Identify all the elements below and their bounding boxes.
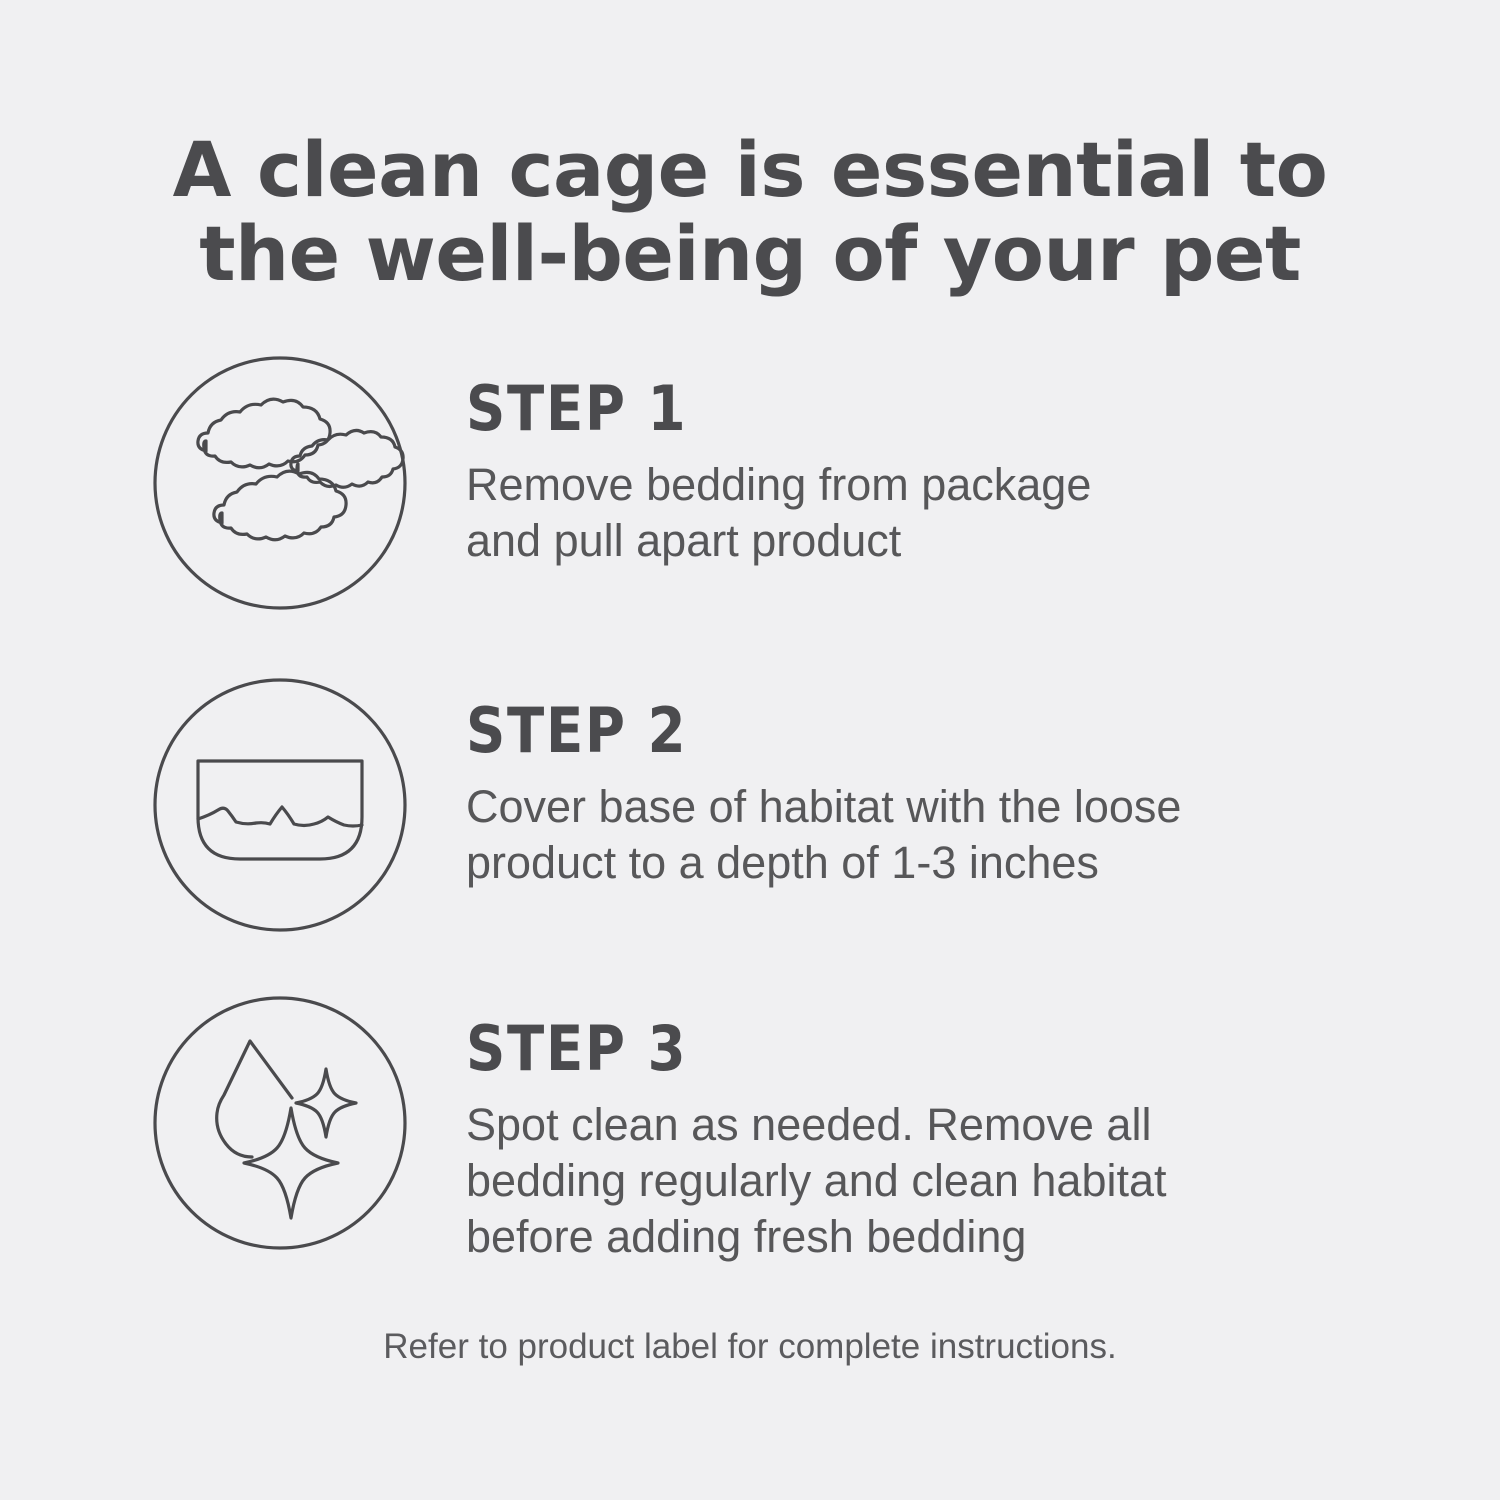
step-item-1: STEP 1 Remove bedding from package and p… [0, 355, 1500, 611]
water-drop-sparkle-icon [152, 995, 408, 1251]
step-item-2: STEP 2 Cover base of habitat with the lo… [0, 677, 1500, 933]
clouds-bedding-icon [152, 355, 408, 611]
step-label-3: STEP 3 [466, 1017, 1293, 1081]
steps-list: STEP 1 Remove bedding from package and p… [0, 355, 1500, 1265]
footer-disclaimer: Refer to product label for complete inst… [0, 1325, 1500, 1369]
habitat-tank-icon [152, 677, 408, 933]
step-item-3: STEP 3 Spot clean as needed. Remove all … [0, 995, 1500, 1265]
step-description-1: Remove bedding from package and pull apa… [466, 457, 1406, 569]
instruction-poster: A clean cage is essential to the well-be… [0, 0, 1500, 1500]
step-text-3: STEP 3 Spot clean as needed. Remove all … [408, 995, 1406, 1265]
step-description-3: Spot clean as needed. Remove all bedding… [466, 1097, 1406, 1265]
step-label-2: STEP 2 [466, 699, 1293, 763]
page-title: A clean cage is essential to the well-be… [0, 128, 1500, 296]
step-description-2: Cover base of habitat with the loose pro… [466, 779, 1406, 891]
step-text-2: STEP 2 Cover base of habitat with the lo… [408, 677, 1406, 891]
step-text-1: STEP 1 Remove bedding from package and p… [408, 355, 1406, 569]
step-label-1: STEP 1 [466, 377, 1293, 441]
